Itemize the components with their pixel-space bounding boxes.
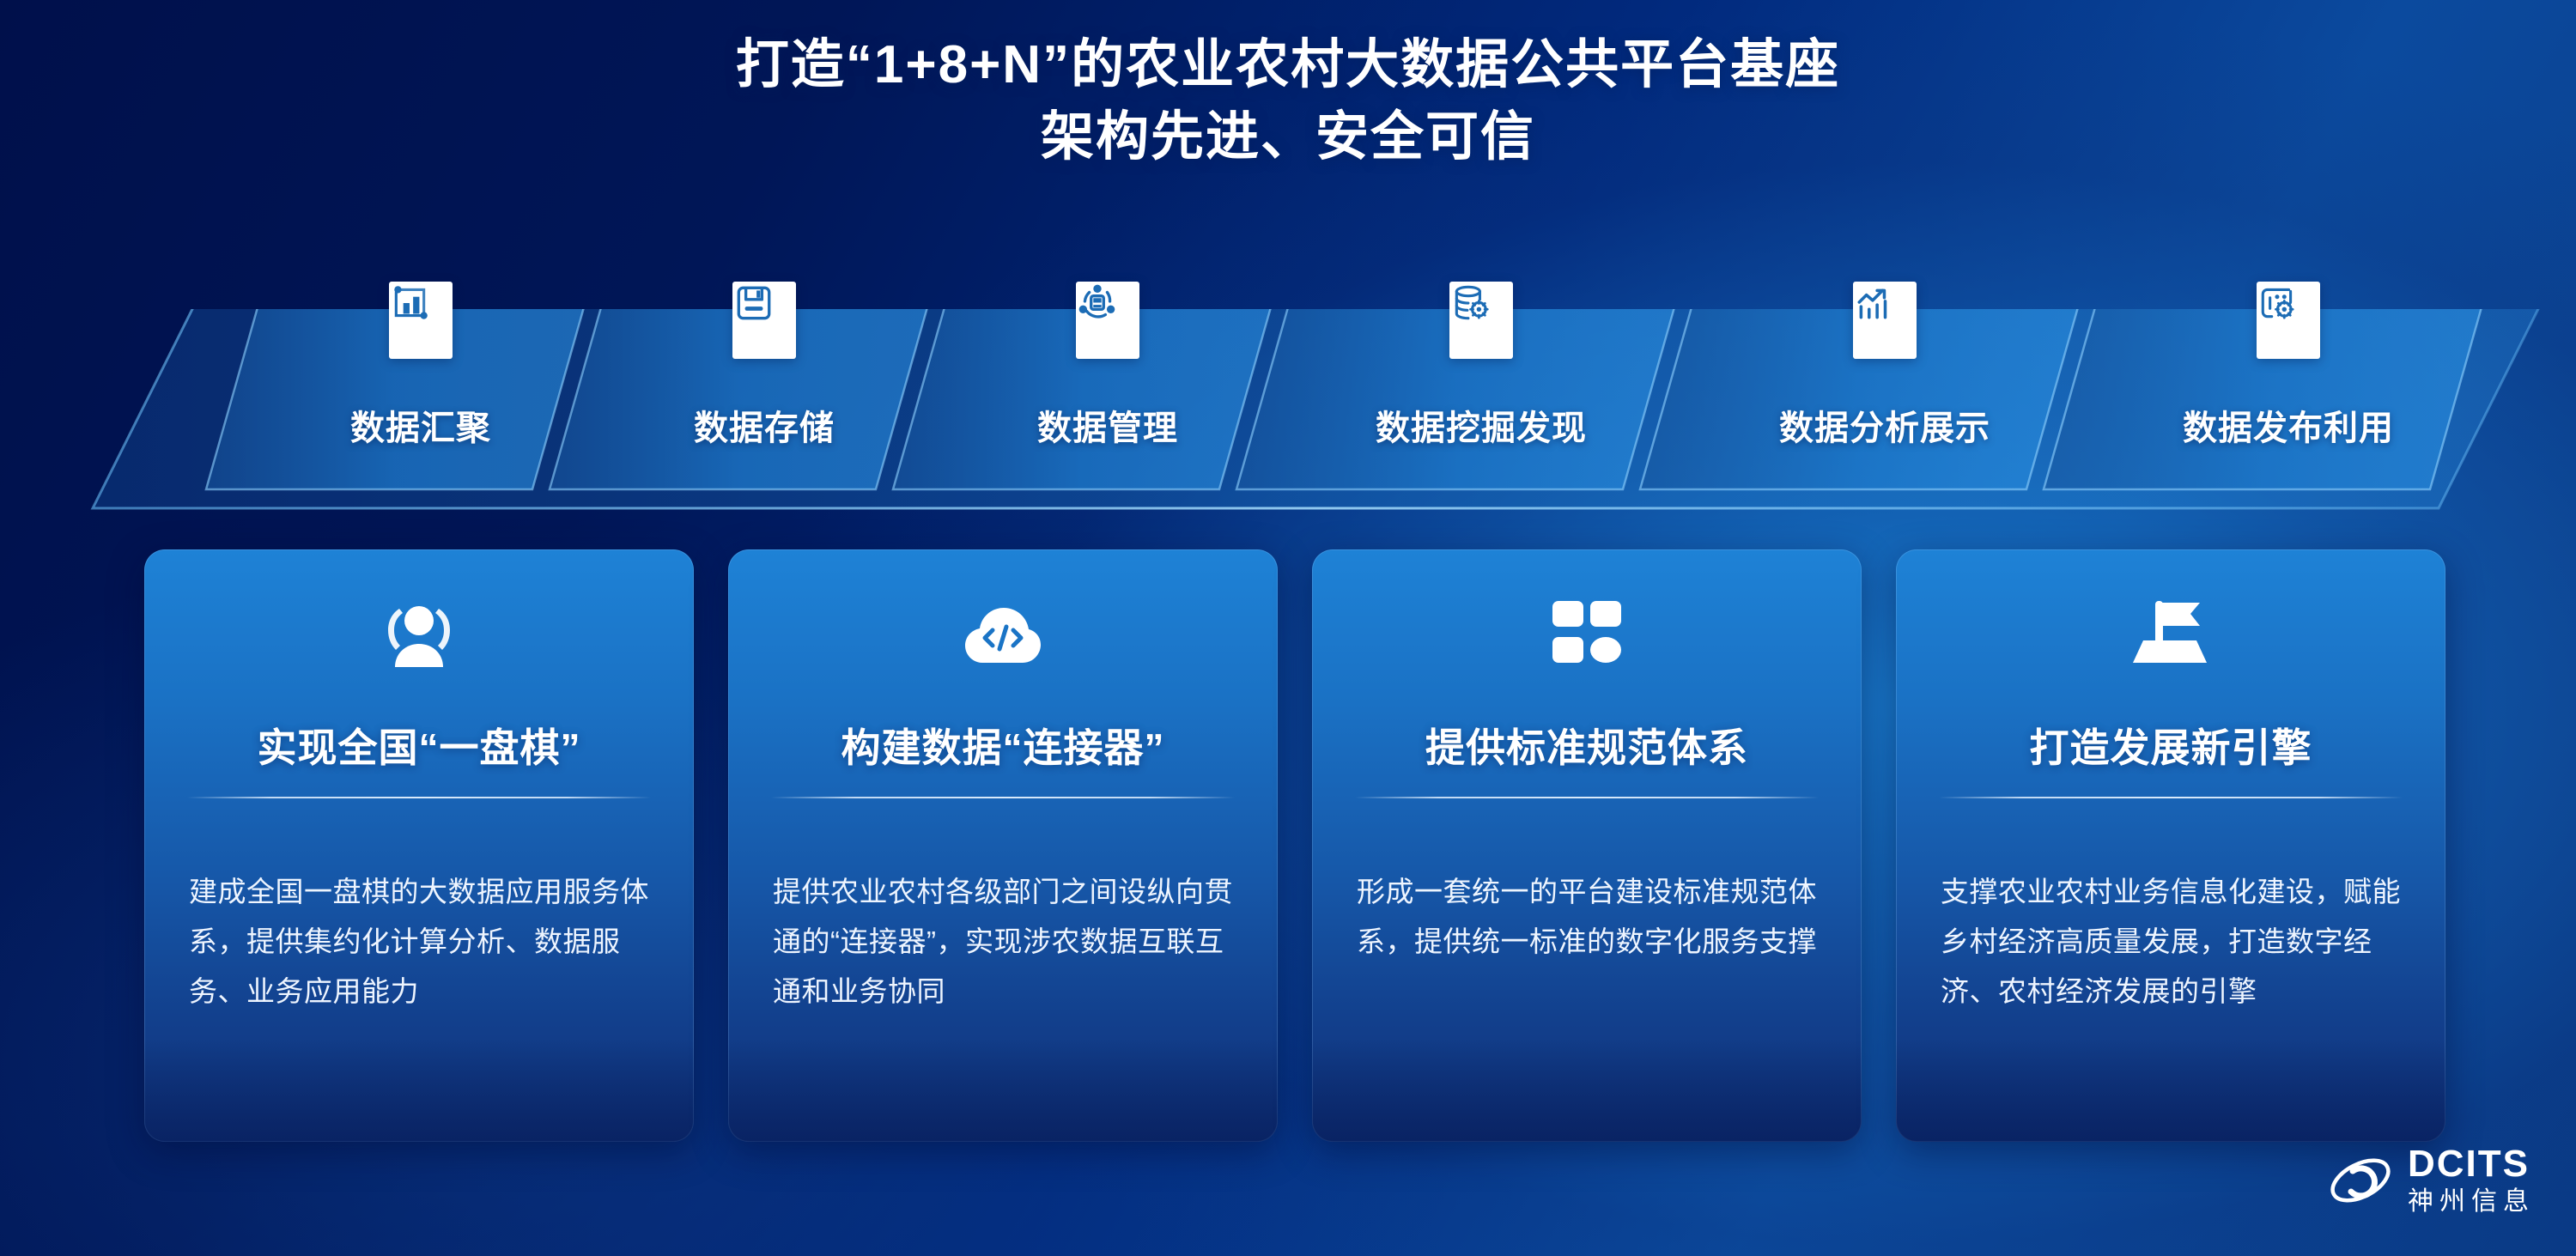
logo-wordmark: DCITS 神州信息 (2408, 1145, 2535, 1215)
title-line-2: 架构先进、安全可信 (0, 101, 2576, 173)
slide-root: 打造“1+8+N”的农业农村大数据公共平台基座 架构先进、安全可信 (0, 0, 2576, 1256)
logo-cn-text: 神州信息 (2408, 1189, 2535, 1215)
card-body: 支撑农业农村业务信息化建设，赋能乡村经济高质量发展，打造数字经济、农村经济发展的… (1941, 867, 2404, 1016)
users-icon (372, 594, 466, 677)
feature-card-2[interactable]: 构建数据“连接器” 提供农业农村各级部门之间设纵向贯通的“连接器”，实现涉农数据… (728, 549, 1278, 1142)
card-title: 打造发展新引擎 (1896, 717, 2445, 774)
database-gear-icon (1449, 282, 1513, 359)
stage-label: 数据存储 (694, 400, 835, 450)
stage-data-management[interactable]: 数据管理 (945, 309, 1271, 532)
card-body: 建成全国一盘棋的大数据应用服务体系，提供集约化计算分析、数据服务、业务应用能力 (189, 867, 653, 1016)
card-title: 构建数据“连接器” (728, 717, 1278, 774)
feature-card-1[interactable]: 实现全国“一盘棋” 建成全国一盘棋的大数据应用服务体系，提供集约化计算分析、数据… (144, 549, 694, 1142)
card-title: 实现全国“一盘棋” (144, 717, 694, 774)
data-lifecycle-platform: 数据汇聚 数据存储 (0, 309, 2576, 532)
four-blocks-icon (1540, 594, 1634, 677)
flag-base-icon (2123, 594, 2218, 677)
dcits-logo: DCITS 神州信息 (2327, 1145, 2535, 1215)
stage-label: 数据管理 (1037, 400, 1178, 450)
stage-label: 数据汇聚 (350, 400, 491, 450)
title-line-1: 打造“1+8+N”的农业农村大数据公共平台基座 (0, 29, 2576, 101)
dcits-swirl-icon (2327, 1150, 2394, 1210)
logo-en-text: DCITS (2408, 1145, 2535, 1183)
stage-label: 数据挖掘发现 (1376, 400, 1587, 450)
stage-data-analysis[interactable]: 数据分析展示 (1692, 309, 2078, 532)
dashboard-gear-icon (2257, 282, 2320, 359)
floppy-disk-icon (732, 282, 796, 359)
bar-chart-frame-icon (389, 282, 453, 359)
cloud-code-icon (956, 594, 1050, 677)
page-title: 打造“1+8+N”的农业农村大数据公共平台基座 架构先进、安全可信 (0, 29, 2576, 173)
card-title: 提供标准规范体系 (1312, 717, 1862, 774)
stage-label: 数据发布利用 (2183, 400, 2394, 450)
feature-card-3[interactable]: 提供标准规范体系 形成一套统一的平台建设标准规范体系，提供统一标准的数字化服务支… (1312, 549, 1862, 1142)
stage-label: 数据分析展示 (1779, 400, 1990, 450)
data-governance-icon (1076, 282, 1139, 359)
card-body: 形成一套统一的平台建设标准规范体系，提供统一标准的数字化服务支撑 (1357, 867, 1820, 967)
stage-data-storage[interactable]: 数据存储 (601, 309, 927, 532)
card-divider (1355, 797, 1819, 798)
stage-data-mining[interactable]: 数据挖掘发现 (1288, 309, 1674, 532)
stage-data-publishing[interactable]: 数据发布利用 (2095, 309, 2482, 532)
card-divider (1939, 797, 2403, 798)
trend-chart-icon (1853, 282, 1917, 359)
card-body: 提供农业农村各级部门之间设纵向贯通的“连接器”，实现涉农数据互联互通和业务协同 (773, 867, 1236, 1016)
feature-card-4[interactable]: 打造发展新引擎 支撑农业农村业务信息化建设，赋能乡村经济高质量发展，打造数字经济… (1896, 549, 2445, 1142)
card-divider (187, 797, 651, 798)
stage-data-aggregation[interactable]: 数据汇聚 (258, 309, 584, 532)
card-divider (771, 797, 1235, 798)
